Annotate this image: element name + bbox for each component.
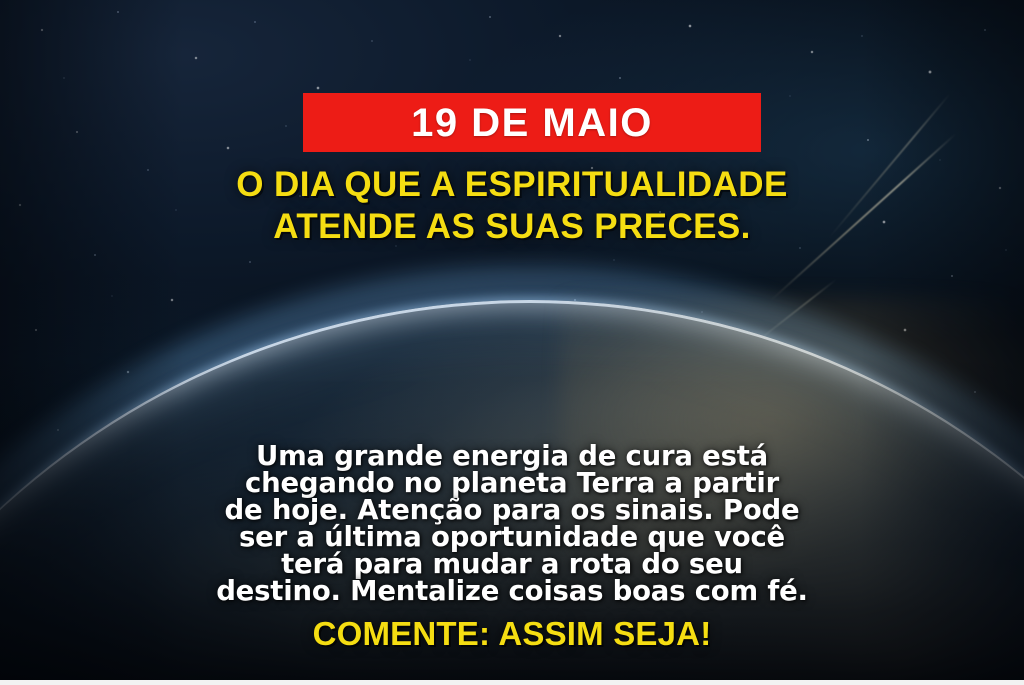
poster-content: 19 DE MAIO O DIA QUE A ESPIRITUALIDADE A…: [0, 0, 1024, 685]
call-to-action-text: COMENTE: ASSIM SEJA!: [0, 615, 1024, 653]
body-line-2: chegando no planeta Terra a partir: [0, 470, 1024, 497]
body-line-3: de hoje. Atenção para os sinais. Pode: [0, 497, 1024, 524]
bottom-white-strip: [0, 680, 1024, 685]
headline-line-1: O DIA QUE A ESPIRITUALIDADE: [0, 164, 1024, 206]
date-banner-text: 19 DE MAIO: [411, 103, 653, 143]
headline: O DIA QUE A ESPIRITUALIDADE ATENDE AS SU…: [0, 164, 1024, 248]
body-paragraph: Uma grande energia de cura está chegando…: [0, 443, 1024, 605]
poster-canvas: 19 DE MAIO O DIA QUE A ESPIRITUALIDADE A…: [0, 0, 1024, 685]
body-line-6: destino. Mentalize coisas boas com fé.: [0, 578, 1024, 605]
body-line-1: Uma grande energia de cura está: [0, 443, 1024, 470]
date-banner: 19 DE MAIO: [303, 93, 761, 152]
headline-line-2: ATENDE AS SUAS PRECES.: [0, 206, 1024, 248]
body-line-4: ser a última oportunidade que você: [0, 524, 1024, 551]
body-line-5: terá para mudar a rota do seu: [0, 551, 1024, 578]
